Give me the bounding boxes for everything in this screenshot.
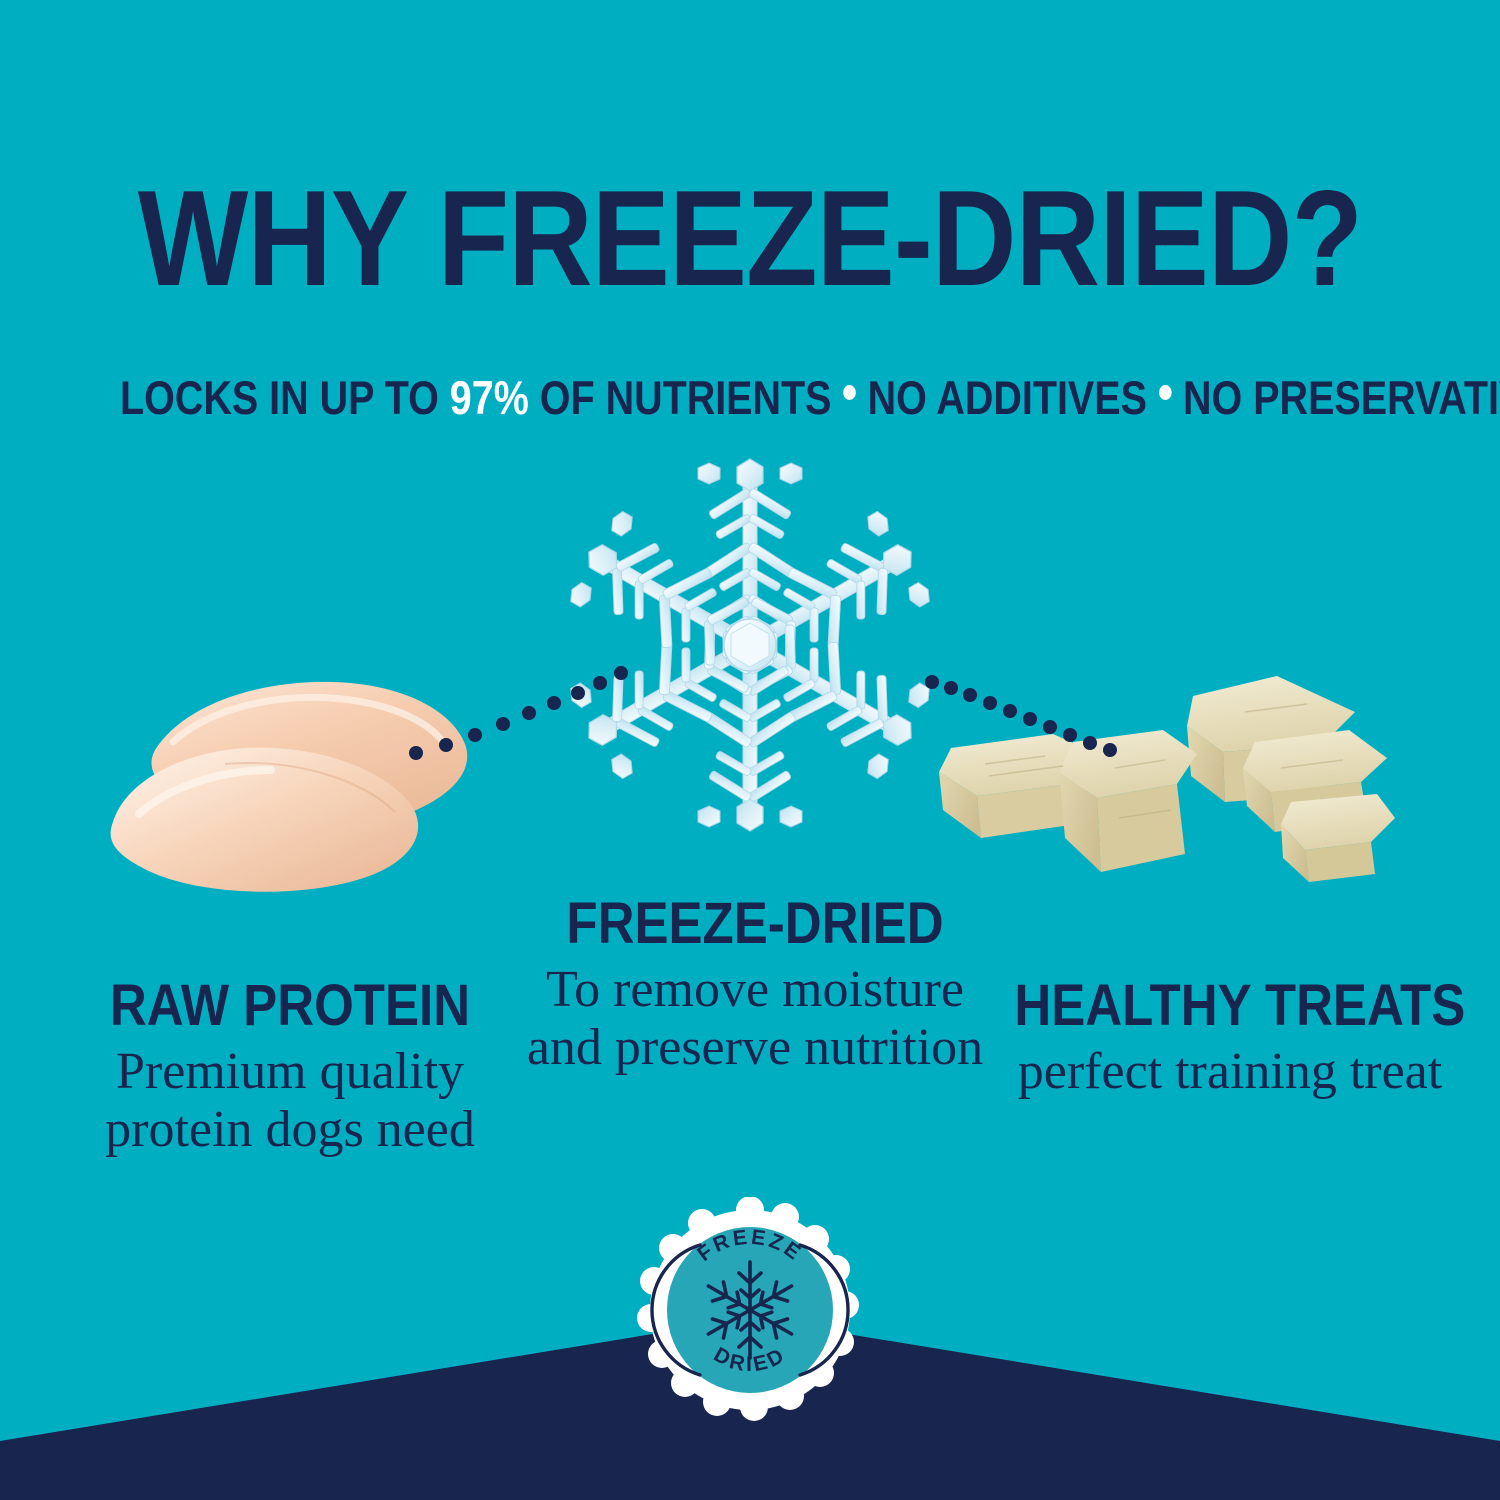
page-title: WHY FREEZE-DRIED? bbox=[105, 168, 1395, 308]
subtitle-part-nutrients: OF NUTRIENTS bbox=[529, 371, 832, 424]
subtitle-no-additives: NO ADDITIVES bbox=[868, 371, 1147, 424]
raw-chicken-breasts-photo bbox=[95, 672, 510, 894]
subtitle-percent-value: 97% bbox=[450, 371, 529, 424]
dotted-connector-right bbox=[880, 650, 1140, 770]
column-heading-freeze-dried: FREEZE-DRIED bbox=[539, 893, 970, 955]
column-body-healthy-treats: perfect training treat bbox=[985, 1043, 1475, 1101]
column-healthy-treats: HEALTHY TREATS perfect training treat bbox=[985, 975, 1475, 1101]
column-body-raw-protein: Premium quality protein dogs need bbox=[40, 1043, 540, 1159]
freeze-dried-chicken-chunks-photo bbox=[925, 672, 1395, 900]
snowflake-crystal-photo bbox=[560, 455, 940, 835]
column-freeze-dried: FREEZE-DRIED To remove moisture and pres… bbox=[510, 893, 1000, 1077]
benefits-subtitle: LOCKS IN UP TO 97% OF NUTRIENTSNO ADDITI… bbox=[120, 372, 1380, 424]
column-raw-protein: RAW PROTEIN Premium quality protein dogs… bbox=[40, 975, 540, 1159]
subtitle-part-locks: LOCKS IN UP TO bbox=[120, 371, 450, 424]
bullet-separator-icon bbox=[843, 385, 856, 400]
column-body-freeze-dried: To remove moisture and preserve nutritio… bbox=[510, 961, 1000, 1077]
column-heading-healthy-treats: HEALTHY TREATS bbox=[1014, 975, 1445, 1037]
column-heading-raw-protein: RAW PROTEIN bbox=[70, 975, 510, 1037]
freeze-dried-seal-badge: FREEZE DRIED bbox=[637, 1197, 863, 1423]
dotted-connector-left bbox=[400, 655, 640, 765]
bullet-separator-icon bbox=[1159, 385, 1172, 400]
why-freeze-dried-infographic: WHY FREEZE-DRIED? LOCKS IN UP TO 97% OF … bbox=[0, 0, 1500, 1500]
subtitle-no-preservatives: NO PRESERVATIVES bbox=[1183, 371, 1500, 424]
